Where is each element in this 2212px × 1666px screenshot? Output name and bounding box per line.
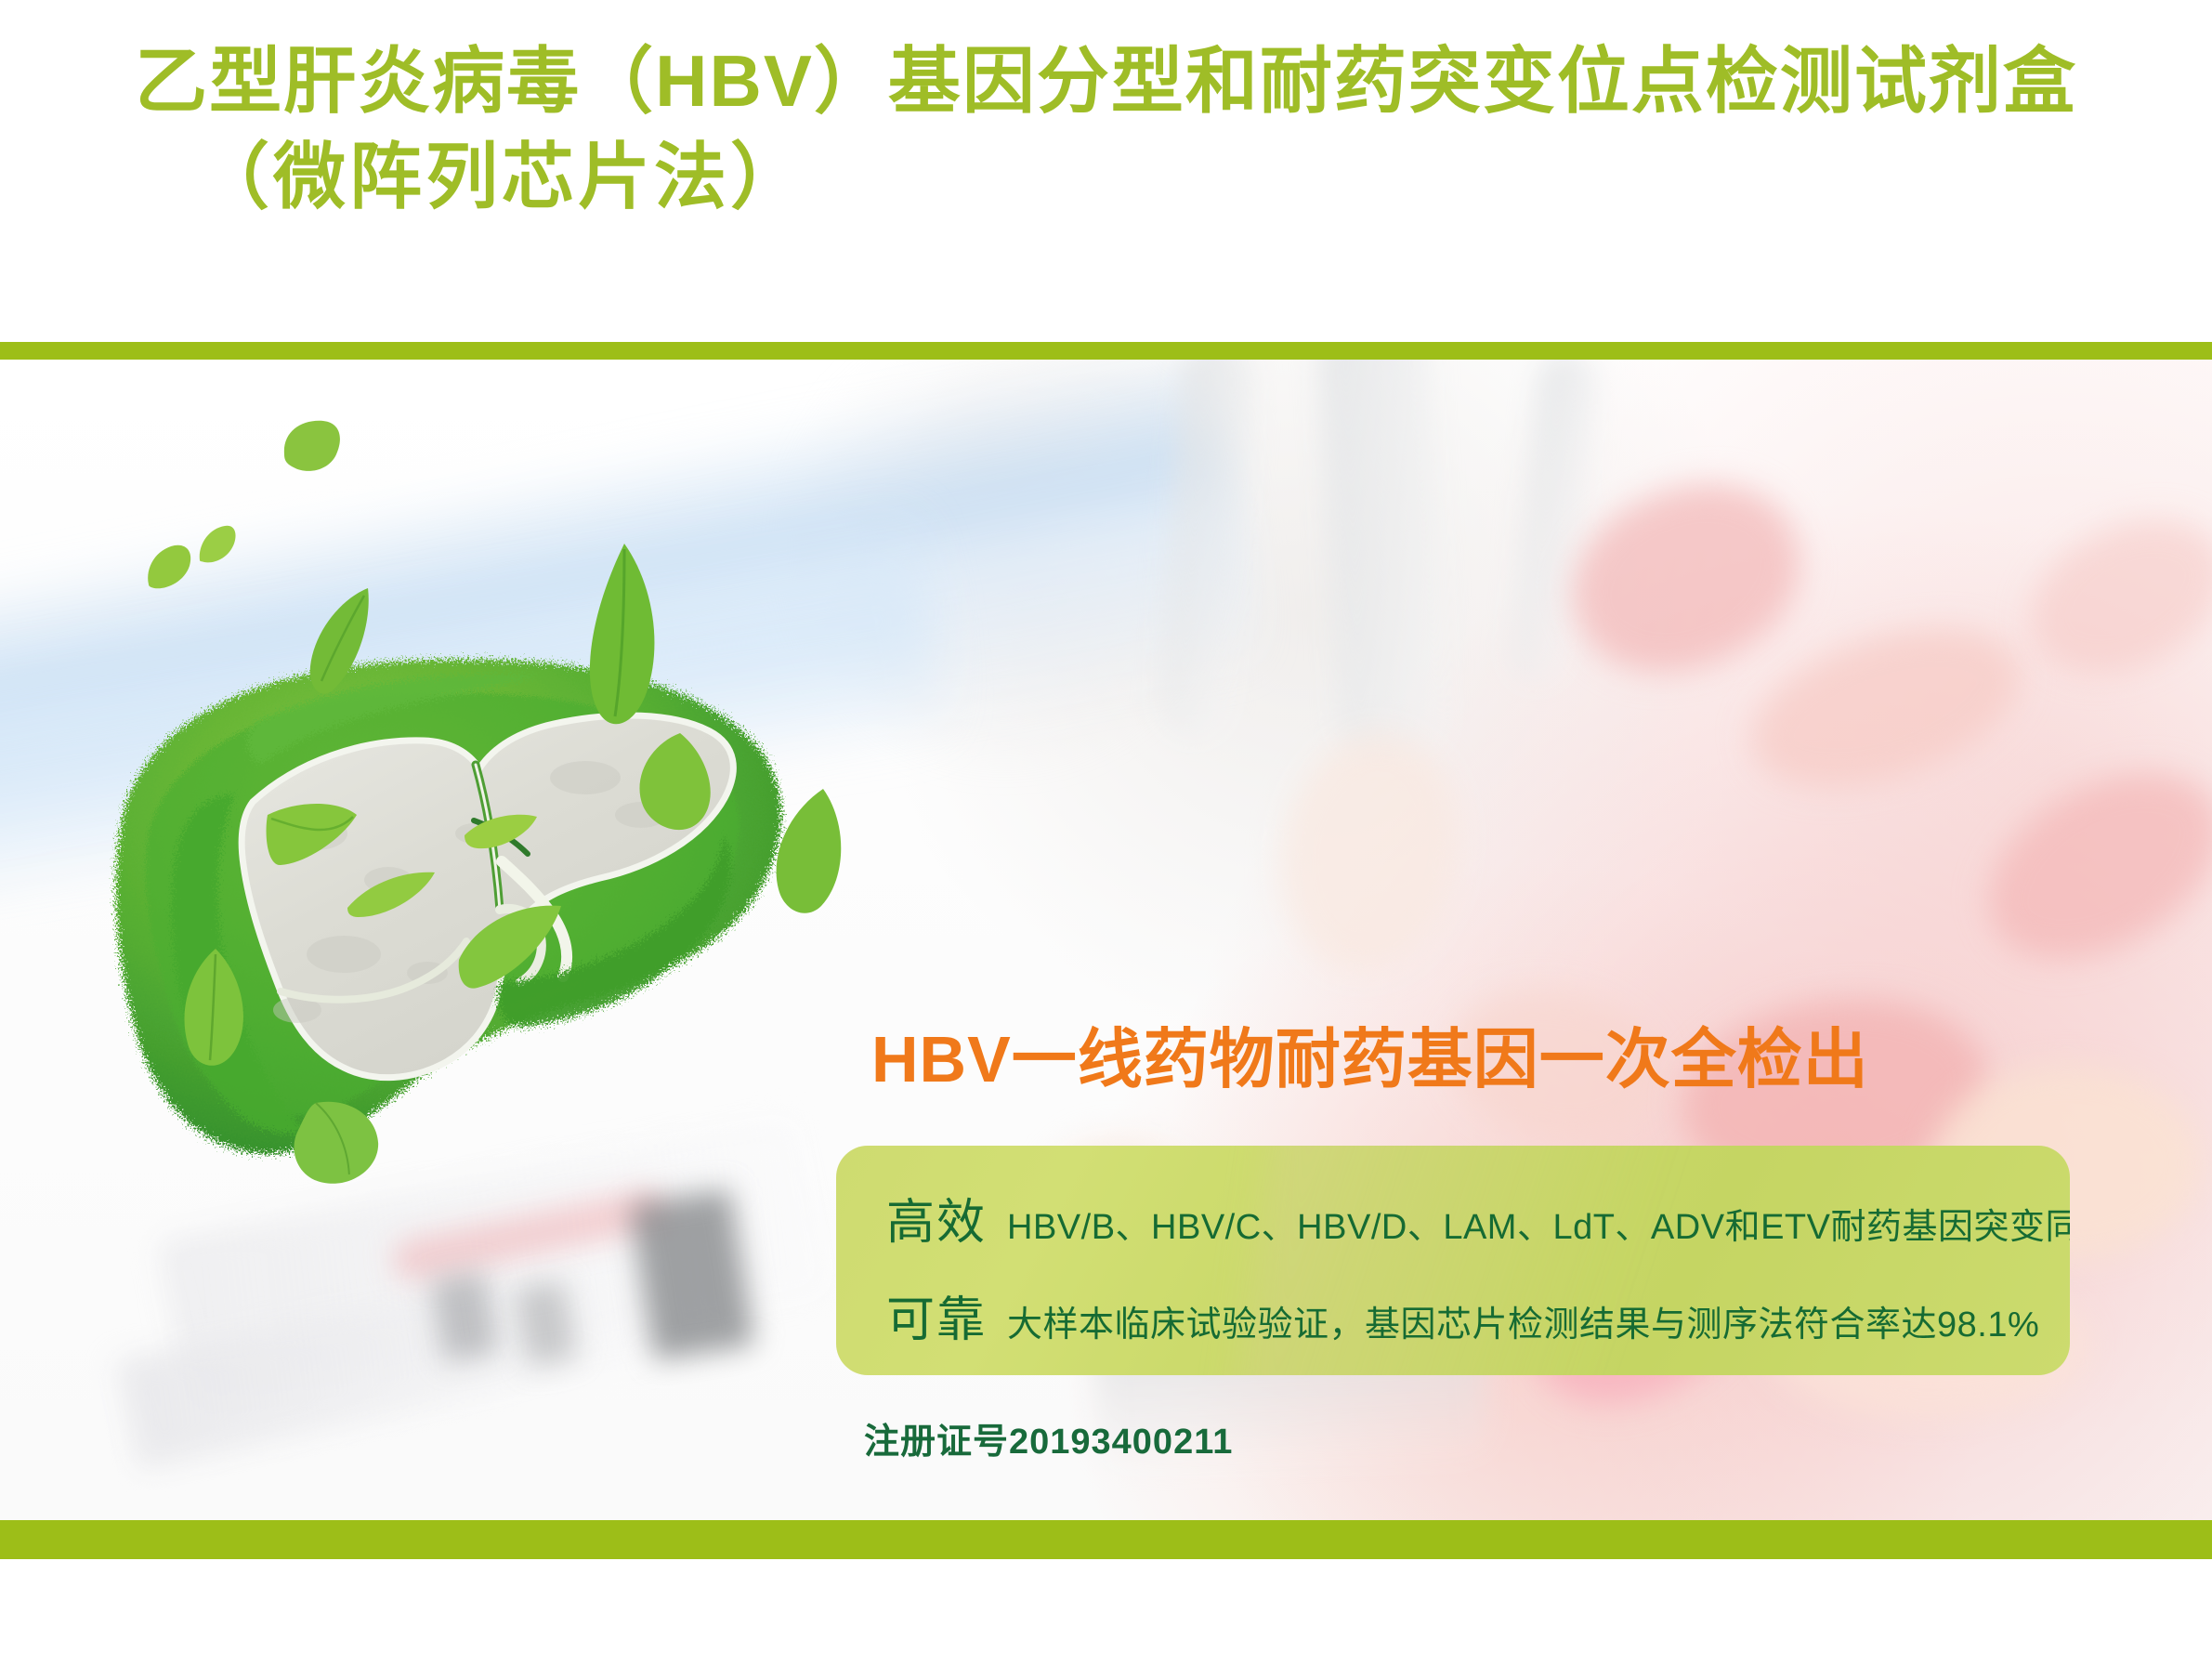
leaf-icon — [769, 787, 849, 919]
leaf-icon — [307, 584, 373, 698]
leaf-icon — [634, 731, 723, 833]
page-title-line-2: （微阵列芯片法） — [0, 129, 2212, 225]
page-title-line-1: 乙型肝炎病毒（HBV）基因分型和耐药突变位点检测试剂盒 — [0, 33, 2212, 129]
leaf-icon — [145, 542, 193, 590]
feature-key: 可靠 — [886, 1280, 987, 1350]
leaf-icon — [266, 798, 359, 874]
leaf-icon — [182, 947, 255, 1068]
background-test-tube — [1317, 360, 1451, 762]
feature-highlight-box: 高效 HBV/B、HBV/C、HBV/D、LAM、LdT、ADV和ETV耐药基因… — [836, 1146, 2070, 1375]
leaf-icon — [197, 523, 238, 564]
feature-key: 高效 — [886, 1183, 987, 1253]
feature-value: HBV/B、HBV/C、HBV/D、LAM、LdT、ADV和ETV耐药基因突变同… — [1007, 1198, 2070, 1249]
leaf-icon — [279, 417, 344, 477]
feature-row: 可靠 大样本临床试验验证，基因芯片检测结果与测序法符合率达98.1% — [886, 1280, 2070, 1350]
hero-banner: HBV一线药物耐药基因一次全检出 高效 HBV/B、HBV/C、HBV/D、LA… — [0, 360, 2212, 1520]
feature-value: 大样本临床试验验证，基因芯片检测结果与测序法符合率达98.1% — [1007, 1295, 2039, 1346]
bottom-green-rule — [0, 1520, 2212, 1559]
leaf-icon — [585, 542, 663, 735]
leaf-icon — [455, 900, 567, 991]
leaf-icon — [463, 811, 539, 850]
product-banner-page: 乙型肝炎病毒（HBV）基因分型和耐药突变位点检测试剂盒 （微阵列芯片法） — [0, 0, 2212, 1666]
registration-number: 注册证号20193400211 — [864, 1412, 1233, 1463]
banner-headline: HBV一线药物耐药基因一次全检出 — [871, 1027, 1869, 1092]
top-green-rule — [0, 342, 2212, 360]
leaf-icon — [346, 871, 437, 919]
page-title: 乙型肝炎病毒（HBV）基因分型和耐药突变位点检测试剂盒 （微阵列芯片法） — [0, 33, 2212, 312]
feature-row: 高效 HBV/B、HBV/C、HBV/D、LAM、LdT、ADV和ETV耐药基因… — [886, 1183, 2070, 1253]
